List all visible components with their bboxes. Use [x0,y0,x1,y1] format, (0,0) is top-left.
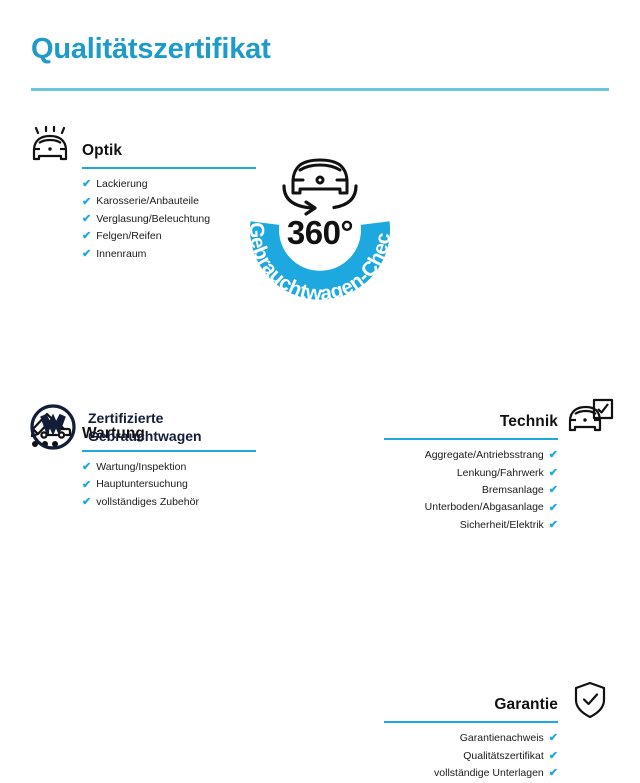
check-icon: ✔ [549,485,558,496]
list-item: Sicherheit/Elektrik✔ [384,517,616,534]
checklist-technik: Aggregate/Antriebsstrang✔ Lenkung/Fahrwe… [384,447,616,534]
section-header: Technik [384,397,616,439]
list-item: Bremsanlage✔ [384,482,616,499]
list-item: ✔Hauptuntersuchung [24,476,256,493]
section-divider [384,721,558,723]
badge-360-gebrauchtwagen-check: Gebrauchtwagen-Check 360° [222,126,418,326]
section-garantie: Garantie Garantienachweis✔ Qualitätszert… [384,680,616,782]
list-item: ✔vollständiges Zubehör [24,494,256,511]
footer-line-1: Zertifizierte [88,410,163,426]
check-icon: ✔ [82,497,91,508]
list-item: Qualitätszertifikat✔ [384,748,616,765]
header-divider [31,88,609,91]
list-item: ✔Wartung/Inspektion [24,459,256,476]
footer-brand-text: Zertifizierte Gebrauchtwagen [88,409,202,445]
list-item-label: Innenraum [96,246,146,263]
check-icon: ✔ [549,468,558,479]
list-item-label: Lackierung [96,176,147,193]
list-item-label: Wartung/Inspektion [96,459,186,476]
check-icon: ✔ [82,462,91,473]
check-icon: ✔ [549,751,558,762]
list-item-label: Bremsanlage [482,482,544,499]
list-item: Unterboden/Abgasanlage✔ [384,499,616,516]
car-rotate-360-icon [284,160,356,214]
check-icon: ✔ [549,768,558,779]
list-item-label: vollständige Unterlagen [434,765,544,782]
checklist-wartung: ✔Wartung/Inspektion ✔Hauptuntersuchung ✔… [24,459,256,511]
check-icon: ✔ [549,503,558,514]
page-title: Qualitätszertifikat [31,33,271,66]
section-technik: Technik Aggregate/Antriebsstrang✔ Lenkun… [384,397,616,534]
shield-check-icon [564,680,616,720]
list-item-label: Karosserie/Anbauteile [96,193,199,210]
section-divider [82,450,256,452]
list-item-label: Verglasung/Beleuchtung [96,211,210,228]
check-icon: ✔ [82,480,91,491]
certificate-page: Qualitätszertifikat Optik [0,0,640,480]
list-item: vollständige Unterlagen✔ [384,765,616,782]
list-item: Aggregate/Antriebsstrang✔ [384,447,616,464]
badge-center-label: 360° [222,214,418,252]
check-icon: ✔ [549,450,558,461]
footer-brand: Zertifizierte Gebrauchtwagen [30,404,202,450]
check-icon: ✔ [549,733,558,744]
list-item-label: Unterboden/Abgasanlage [425,499,544,516]
car-front-shine-icon [24,126,76,166]
list-item: Lenkung/Fahrwerk✔ [384,465,616,482]
check-icon: ✔ [549,520,558,531]
section-title: Optik [82,142,122,160]
list-item-label: vollständiges Zubehör [96,494,199,511]
vw-logo-icon [30,404,76,450]
section-title: Technik [500,413,558,431]
check-icon: ✔ [82,249,91,260]
list-item-label: Aggregate/Antriebsstrang [425,447,544,464]
section-divider [384,438,558,440]
footer-line-2: Gebrauchtwagen [88,428,202,444]
list-item-label: Lenkung/Fahrwerk [457,465,544,482]
list-item: Garantienachweis✔ [384,730,616,747]
section-title: Garantie [494,696,558,714]
list-item-label: Qualitätszertifikat [463,748,544,765]
section-header: Garantie [384,680,616,722]
checklist-garantie: Garantienachweis✔ Qualitätszertifikat✔ v… [384,730,616,782]
check-icon: ✔ [82,197,91,208]
list-item-label: Hauptuntersuchung [96,476,188,493]
check-icon: ✔ [82,179,91,190]
list-item-label: Felgen/Reifen [96,228,161,245]
car-front-checkbox-icon [564,397,616,437]
check-icon: ✔ [82,214,91,225]
list-item-label: Sicherheit/Elektrik [460,517,544,534]
list-item-label: Garantienachweis [460,730,544,747]
check-icon: ✔ [82,231,91,242]
